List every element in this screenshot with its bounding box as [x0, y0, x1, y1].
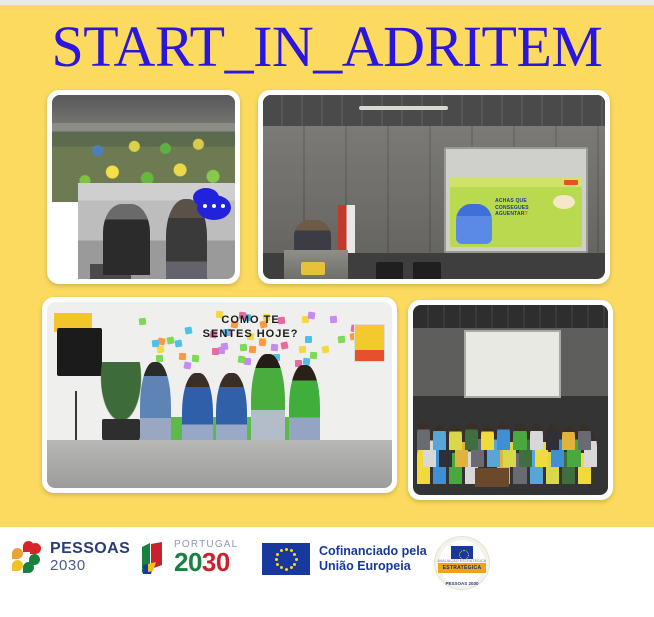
- presentation-slide: ACHAS QUE CONSEGUES AGUENTAR?: [450, 177, 581, 247]
- chair-right: [413, 262, 440, 279]
- pessoas-person-dot: [12, 548, 23, 559]
- eu-star: [285, 548, 288, 551]
- eu-line1: Cofinanciado pela: [319, 544, 427, 559]
- portugal-flag-icon: [140, 541, 170, 575]
- slide-headline-question-mark: ?: [525, 211, 528, 217]
- group-person: [417, 422, 430, 451]
- hall-room: [413, 305, 608, 495]
- audience-collage-image: [52, 95, 235, 279]
- poster-canvas: START_IN_ADRITEM: [0, 0, 654, 617]
- pessoas-person-dot: [30, 543, 41, 554]
- ellipsis-dots: [203, 204, 225, 208]
- floor: [47, 440, 392, 488]
- eu-wordmark: Cofinanciado pela União Europeia: [319, 544, 427, 574]
- photo-card-speaker-stage[interactable]: ACHAS QUE CONSEGUES AGUENTAR?: [258, 90, 610, 284]
- portugal-flag-stand: [338, 205, 355, 253]
- eu-flag-icon: [262, 543, 310, 575]
- pessoas-person-dot: [29, 554, 40, 565]
- slide-headline-line3: AGUENTAR?: [495, 211, 576, 218]
- portugal-year: 2030: [174, 549, 238, 575]
- lectern-emblem: [301, 262, 325, 275]
- portugal-wordmark: PORTUGAL 2030: [174, 540, 238, 575]
- group-person: [546, 424, 559, 450]
- students-wall-image: COMO TE SENTES HOJE?: [47, 302, 392, 488]
- wall-poster: [354, 324, 385, 361]
- badge-eu-flag-icon: [450, 545, 474, 560]
- group-person: [465, 422, 478, 451]
- eu-star: [285, 568, 288, 571]
- ceiling-panels: [263, 95, 605, 126]
- eu-star: [290, 549, 293, 552]
- pessoas-wordmark: PESSOAS 2030: [50, 541, 130, 573]
- group-person: [513, 424, 526, 450]
- sticky-note: [138, 318, 146, 326]
- presenter-male: [103, 204, 150, 275]
- logo-estrategica-badge[interactable]: AVALIAÇÃO ESTRATÉGICA ESTRATÉGICA PESSOA…: [434, 536, 490, 590]
- eu-star: [276, 563, 279, 566]
- eu-line2: União Europeia: [319, 559, 427, 574]
- slide-navbar: [450, 177, 581, 187]
- group-person: [578, 424, 591, 450]
- hall-ceiling: [413, 305, 608, 328]
- photo-card-students-wall[interactable]: COMO TE SENTES HOJE?: [42, 297, 397, 493]
- pessoas-person-dot: [12, 560, 23, 571]
- page-title: START_IN_ADRITEM: [0, 16, 654, 78]
- group-person: [562, 426, 575, 450]
- pessoas-name: PESSOAS: [50, 541, 130, 557]
- slide-nav-button: [564, 180, 578, 185]
- wall-question-line2: SENTES HOJE?: [151, 327, 351, 341]
- photo-card-group-photo[interactable]: [408, 300, 613, 500]
- eu-star: [280, 549, 283, 552]
- eu-star: [276, 553, 279, 556]
- logo-portugal-2030[interactable]: PORTUGAL 2030: [140, 540, 238, 575]
- group-person: [449, 425, 462, 450]
- slide-headline: ACHAS QUE CONSEGUES AGUENTAR?: [495, 198, 576, 218]
- speaker-stage-image: ACHAS QUE CONSEGUES AGUENTAR?: [263, 95, 605, 279]
- pessoas-year: 2030: [50, 558, 130, 573]
- ceiling-light: [359, 106, 448, 110]
- wall-question-text: COMO TE SENTES HOJE?: [151, 313, 351, 361]
- photo-card-audience-collage[interactable]: [47, 90, 240, 284]
- footer-bar: PESSOAS 2030 PORTUGAL 2030 Cofinanc: [0, 527, 654, 617]
- pessoas-people-icon: [12, 541, 44, 573]
- eu-star: [293, 553, 296, 556]
- conference-room: ACHAS QUE CONSEGUES AGUENTAR?: [263, 95, 605, 279]
- group-person: [481, 425, 494, 450]
- sticky-note: [183, 362, 191, 370]
- projection-screen: ACHAS QUE CONSEGUES AGUENTAR?: [444, 147, 588, 254]
- slide-illustration-person: [456, 204, 493, 245]
- badge-footer-label: PESSOAS 2030: [434, 581, 490, 586]
- logo-eu-cofinanced[interactable]: Cofinanciado pela União Europeia: [262, 543, 427, 575]
- group-person: [530, 424, 543, 450]
- eu-star: [275, 558, 278, 561]
- eu-star: [290, 566, 293, 569]
- eu-star: [293, 563, 296, 566]
- monitor-stand: [75, 391, 77, 439]
- eu-star: [280, 566, 283, 569]
- eu-star: [295, 558, 298, 561]
- wall-question-line1: COMO TE: [151, 313, 351, 327]
- group-photo-image: [413, 305, 608, 495]
- badge-band-label: ESTRATÉGICA: [438, 563, 486, 573]
- group-person: [497, 422, 510, 450]
- studio-room: COMO TE SENTES HOJE?: [47, 302, 392, 488]
- group-participants: [417, 385, 604, 484]
- low-table: [475, 468, 508, 487]
- speech-bubble-icon: [197, 195, 231, 220]
- logo-pessoas-2030[interactable]: PESSOAS 2030: [12, 541, 130, 573]
- group-person: [433, 424, 446, 450]
- chair-left: [376, 262, 403, 279]
